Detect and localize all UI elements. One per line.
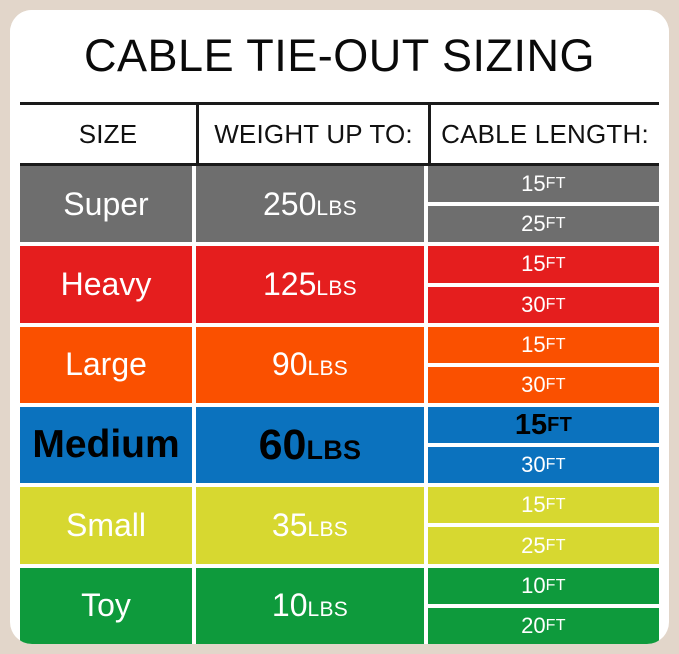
cell-weight: 250LBS: [196, 166, 428, 242]
cable-length-unit: FT: [546, 215, 566, 233]
cable-length-value: 25: [521, 211, 545, 237]
weight-value: 125: [263, 266, 316, 302]
cable-length-unit: FT: [546, 537, 566, 555]
cable-length-unit: FT: [546, 296, 566, 314]
weight-label: 10LBS: [272, 587, 348, 624]
cable-length-stack: 15FT25FT: [428, 166, 659, 242]
cable-length-value: 15: [521, 251, 545, 277]
weight-label: 125LBS: [263, 266, 357, 303]
size-label: Small: [66, 507, 146, 544]
weight-value: 60: [259, 421, 307, 469]
size-label: Large: [65, 346, 147, 383]
column-header-weight: WEIGHT UP TO:: [196, 105, 428, 163]
weight-value: 10: [272, 587, 308, 623]
table-body: Super250LBS15FT25FTHeavy125LBS15FT30FTLa…: [20, 166, 659, 644]
cell-weight: 35LBS: [196, 487, 428, 563]
cell-size: Super: [20, 166, 196, 242]
cable-length-unit: FT: [546, 255, 566, 273]
size-label: Medium: [32, 423, 179, 467]
cable-length-option-2: 30FT: [428, 447, 659, 483]
table-row: Toy10LBS10FT20FT: [20, 568, 659, 644]
weight-unit: LBS: [308, 518, 349, 541]
cell-cable-length: 15FT30FT: [428, 246, 659, 322]
weight-unit: LBS: [306, 435, 361, 465]
cell-weight: 125LBS: [196, 246, 428, 322]
cable-length-option-1: 15FT: [428, 487, 659, 527]
title-bar: CABLE TIE-OUT SIZING: [10, 10, 669, 102]
cable-length-value: 30: [521, 372, 545, 398]
table-header-row: SIZE WEIGHT UP TO: CABLE LENGTH:: [20, 105, 659, 166]
cell-size: Large: [20, 327, 196, 403]
cell-cable-length: 10FT20FT: [428, 568, 659, 644]
cell-size: Medium: [20, 407, 196, 483]
table-row: Heavy125LBS15FT30FT: [20, 246, 659, 326]
cell-size: Toy: [20, 568, 196, 644]
cable-length-option-1: 15FT: [428, 327, 659, 367]
cell-weight: 10LBS: [196, 568, 428, 644]
table-row: Super250LBS15FT25FT: [20, 166, 659, 246]
weight-value: 35: [272, 507, 308, 543]
cable-length-value: 10: [521, 573, 545, 599]
column-header-cable-length: CABLE LENGTH:: [428, 105, 659, 163]
weight-unit: LBS: [316, 197, 357, 220]
sizing-card: CABLE TIE-OUT SIZING SIZE WEIGHT UP TO: …: [10, 10, 669, 644]
cell-size: Small: [20, 487, 196, 563]
cable-length-value: 15: [521, 492, 545, 518]
weight-unit: LBS: [308, 357, 349, 380]
cell-cable-length: 15FT25FT: [428, 166, 659, 242]
cable-length-unit: FT: [546, 456, 566, 474]
cable-length-stack: 15FT30FT: [428, 407, 659, 483]
cell-size: Heavy: [20, 246, 196, 322]
cable-length-unit: FT: [546, 577, 566, 595]
cell-cable-length: 15FT30FT: [428, 327, 659, 403]
cell-cable-length: 15FT30FT: [428, 407, 659, 483]
cable-length-value: 20: [521, 613, 545, 639]
cable-length-option-2: 25FT: [428, 206, 659, 242]
weight-label: 250LBS: [263, 186, 357, 223]
sizing-table: SIZE WEIGHT UP TO: CABLE LENGTH: Super25…: [20, 102, 659, 644]
cell-cable-length: 15FT25FT: [428, 487, 659, 563]
weight-label: 90LBS: [272, 346, 348, 383]
cable-length-option-2: 30FT: [428, 367, 659, 403]
cable-length-option-1: 10FT: [428, 568, 659, 608]
weight-value: 250: [263, 186, 316, 222]
weight-unit: LBS: [316, 277, 357, 300]
column-header-size: SIZE: [20, 105, 196, 163]
cable-length-option-1: 15FT: [428, 246, 659, 286]
weight-value: 90: [272, 346, 308, 382]
table-row: Small35LBS15FT25FT: [20, 487, 659, 567]
cable-length-option-2: 25FT: [428, 527, 659, 563]
cable-length-unit: FT: [546, 175, 566, 193]
cable-length-value: 15: [515, 409, 547, 442]
cable-length-stack: 15FT25FT: [428, 487, 659, 563]
size-label: Heavy: [61, 266, 152, 303]
cable-length-value: 15: [521, 171, 545, 197]
cable-length-stack: 15FT30FT: [428, 246, 659, 322]
page-title: CABLE TIE-OUT SIZING: [84, 30, 595, 82]
size-label: Toy: [81, 587, 131, 624]
weight-unit: LBS: [308, 598, 349, 621]
cell-weight: 90LBS: [196, 327, 428, 403]
cable-length-unit: FT: [546, 336, 566, 354]
size-label: Super: [63, 186, 148, 223]
cable-length-stack: 15FT30FT: [428, 327, 659, 403]
cable-length-value: 15: [521, 332, 545, 358]
table-row: Medium60LBS15FT30FT: [20, 407, 659, 487]
cable-length-stack: 10FT20FT: [428, 568, 659, 644]
weight-label: 35LBS: [272, 507, 348, 544]
cell-weight: 60LBS: [196, 407, 428, 483]
poster-frame: CABLE TIE-OUT SIZING SIZE WEIGHT UP TO: …: [0, 0, 679, 654]
cable-length-option-2: 30FT: [428, 287, 659, 323]
table-row: Large90LBS15FT30FT: [20, 327, 659, 407]
cable-length-value: 30: [521, 292, 545, 318]
cable-length-unit: FT: [546, 496, 566, 514]
cable-length-value: 25: [521, 533, 545, 559]
cable-length-option-1: 15FT: [428, 407, 659, 447]
cable-length-unit: FT: [546, 617, 566, 635]
cable-length-unit: FT: [547, 414, 572, 437]
cable-length-unit: FT: [546, 376, 566, 394]
cable-length-option-1: 15FT: [428, 166, 659, 206]
cable-length-option-2: 20FT: [428, 608, 659, 644]
cable-length-value: 30: [521, 452, 545, 478]
weight-label: 60LBS: [259, 421, 362, 470]
